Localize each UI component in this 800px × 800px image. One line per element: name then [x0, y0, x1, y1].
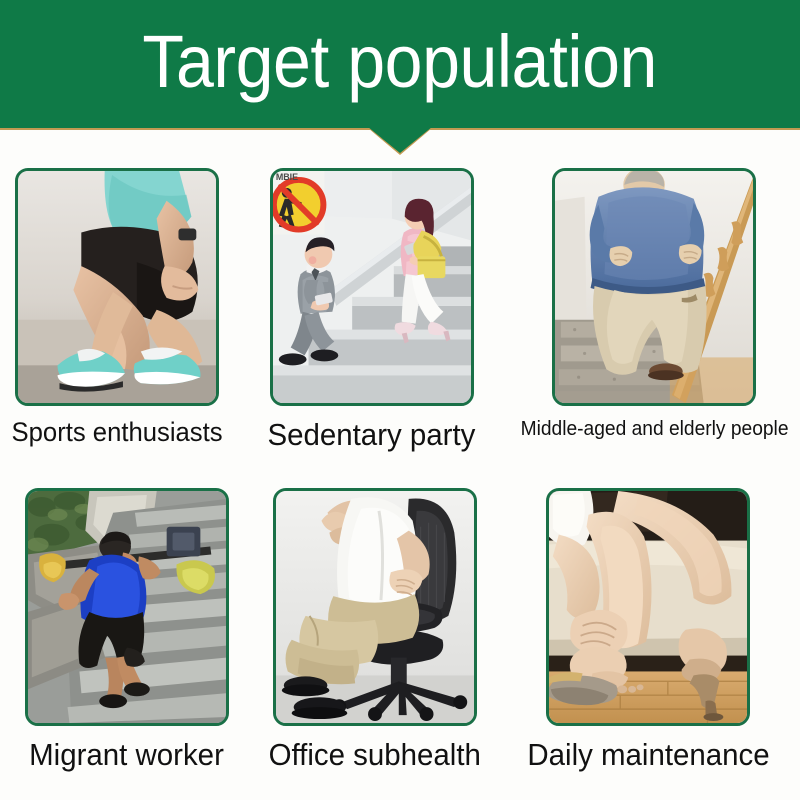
header-notch-icon — [368, 127, 432, 153]
card-label-migrant-worker: Migrant worker — [29, 739, 224, 770]
card-label-sports-enthusiasts: Sports enthusiasts — [12, 419, 223, 446]
page-title: Target population — [143, 25, 658, 99]
card-middle-aged-elderly[interactable]: Middle-aged and elderly people — [515, 168, 794, 439]
runner-holding-ankle-photo — [18, 171, 216, 403]
card-label-middle-aged-elderly: Middle-aged and elderly people — [521, 419, 789, 439]
thumbnail-daily-maintenance[interactable] — [546, 488, 750, 726]
card-label-office-subhealth: Office subhealth — [269, 739, 481, 770]
elderly-man-back-pain-stairs-photo — [555, 171, 753, 403]
card-sports-enthusiasts[interactable]: Sports enthusiasts — [6, 168, 228, 446]
card-label-daily-maintenance: Daily maintenance — [527, 739, 769, 770]
poster: Target population — [0, 0, 800, 800]
office-worker-neck-back-pain-photo — [276, 491, 474, 723]
thumbnail-sports-enthusiasts[interactable] — [15, 168, 219, 406]
woman-rubbing-ankle-heels-photo — [549, 491, 747, 723]
porter-carrying-load-stairs-photo — [28, 491, 226, 723]
thumbnail-middle-aged-elderly[interactable] — [552, 168, 756, 406]
svg-text:MBIE: MBIE — [275, 172, 297, 182]
card-migrant-worker[interactable]: Migrant worker — [24, 488, 229, 770]
card-row-1: Sports enthusiasts — [0, 168, 800, 450]
header-banner: Target population — [0, 0, 800, 128]
card-row-2: Migrant worker — [0, 488, 800, 770]
thumbnail-office-subhealth[interactable] — [273, 488, 477, 726]
thumbnail-migrant-worker[interactable] — [25, 488, 229, 726]
card-daily-maintenance[interactable]: Daily maintenance — [521, 488, 776, 770]
card-office-subhealth[interactable]: Office subhealth — [263, 488, 486, 770]
card-sedentary-party[interactable]: MBIE — [262, 168, 481, 450]
thumbnail-sedentary-party[interactable]: MBIE — [270, 168, 474, 406]
card-label-sedentary-party: Sedentary party — [268, 419, 476, 450]
phone-walkers-on-stairs-illustration: MBIE — [273, 171, 471, 403]
